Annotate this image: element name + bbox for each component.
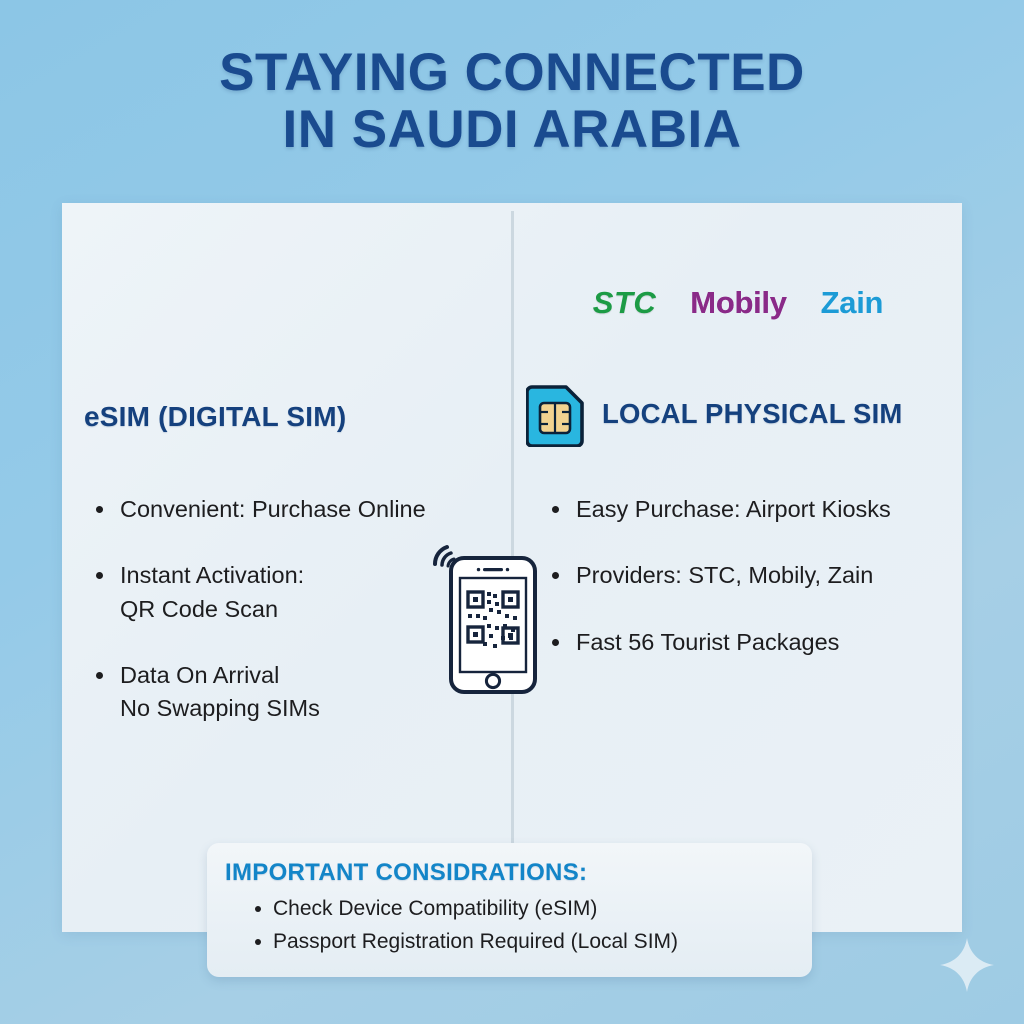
list-item: Passport Registration Required (Local SI…: [253, 926, 812, 959]
physical-sim-bullet-list: Easy Purchase: Airport Kiosks Providers:…: [546, 493, 956, 692]
esim-bullet-list: Convenient: Purchase Online Instant Acti…: [90, 493, 490, 759]
callout-title: IMPORTANT CONSIDRATIONS:: [225, 859, 812, 887]
comparison-panel: eSIM (DIGITAL SIM) Convenient: Purchase …: [62, 203, 962, 932]
list-item: Instant Activation: QR Code Scan: [90, 559, 490, 626]
list-item: Convenient: Purchase Online: [90, 493, 490, 526]
physical-sim-heading: LOCAL PHYSICAL SIM: [602, 398, 903, 430]
carrier-logo-row: STC Mobily Zain: [514, 287, 962, 318]
four-point-sparkle-icon: [938, 936, 996, 994]
page-title-line-1: STAYING CONNECTED: [0, 44, 1024, 101]
callout-list: Check Device Compatibility (eSIM) Passpo…: [225, 893, 812, 958]
esim-heading-row: eSIM (DIGITAL SIM): [84, 401, 514, 433]
physical-sim-heading-row: LOCAL PHYSICAL SIM: [526, 381, 962, 447]
list-item: Data On Arrival No Swapping SIMs: [90, 659, 490, 726]
page-title-line-2: IN SAUDI ARABIA: [0, 101, 1024, 158]
zain-logo: Zain: [821, 287, 884, 318]
list-item: Easy Purchase: Airport Kiosks: [546, 493, 956, 526]
important-considerations-callout: IMPORTANT CONSIDRATIONS: Check Device Co…: [207, 843, 812, 977]
page-title: STAYING CONNECTED IN SAUDI ARABIA: [0, 44, 1024, 158]
mobily-logo: Mobily: [690, 287, 786, 318]
esim-heading: eSIM (DIGITAL SIM): [84, 401, 346, 433]
list-item: Providers: STC, Mobily, Zain: [546, 559, 956, 592]
sim-card-icon: [526, 381, 588, 447]
list-item: Fast 56 Tourist Packages: [546, 626, 956, 659]
esim-column: eSIM (DIGITAL SIM) Convenient: Purchase …: [62, 203, 511, 932]
physical-sim-column: STC Mobily Zain LOCAL PHYSICAL SIM Easy …: [514, 203, 962, 932]
list-item: Check Device Compatibility (eSIM): [253, 893, 812, 926]
stc-logo: STC: [593, 287, 657, 318]
